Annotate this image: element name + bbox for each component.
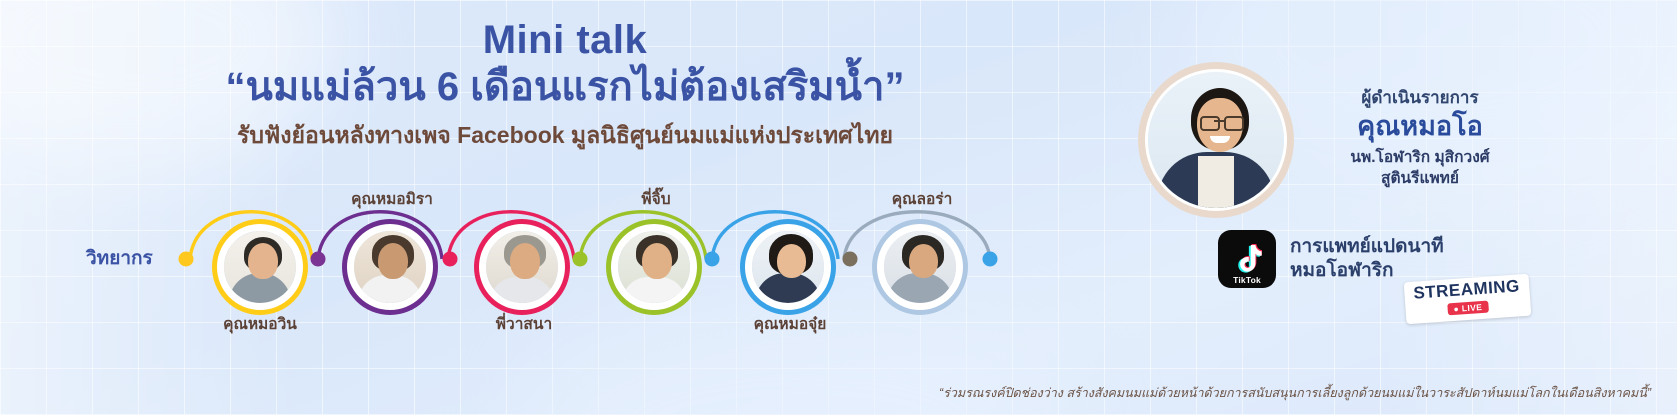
host-specialty: สูตินรีแพทย์ — [1300, 169, 1540, 190]
speaker-node-4[interactable] — [606, 219, 702, 315]
tiktok-note-glyph — [1232, 243, 1262, 275]
tiktok-icon[interactable]: TikTok — [1218, 230, 1276, 288]
speaker-name-6: คุณลอร่า — [842, 186, 1002, 211]
footer-note: “ร่วมรณรงค์ปิดช่องว่าง สร้างสังคมนมแม่ด้… — [0, 383, 1651, 403]
speaker-avatar-5 — [749, 228, 827, 306]
tiktok-channel-block[interactable]: TikTok การแพทย์แปดนาที หมอโอฬาริก — [1218, 230, 1444, 288]
host-role-label: ผู้ดำเนินรายการ — [1300, 88, 1540, 108]
speaker-name-1: คุณหมอวิน — [180, 311, 340, 336]
speaker-avatar-2 — [351, 228, 429, 306]
mini-talk-banner: Mini talk “นมแม่ล้วน 6 เดือนแรกไม่ต้องเส… — [0, 0, 1677, 415]
speaker-avatar-1 — [221, 228, 299, 306]
host-info: ผู้ดำเนินรายการ คุณหมอโอ นพ.โอฬาริก มุสิ… — [1300, 88, 1540, 190]
speaker-node-5[interactable] — [740, 219, 836, 315]
host-nickname: คุณหมอโอ — [1300, 110, 1540, 144]
speaker-node-6[interactable] — [872, 219, 968, 315]
speaker-name-3: พี่วาสนา — [444, 311, 604, 336]
speaker-avatar-4 — [615, 228, 693, 306]
speaker-name-2: คุณหมอมิรา — [312, 186, 472, 211]
tiktok-wordmark: TikTok — [1218, 275, 1276, 285]
channel-name-line1: การแพทย์แปดนาที — [1290, 235, 1444, 259]
live-badge: ● LIVE — [1447, 301, 1489, 316]
host-avatar — [1138, 62, 1294, 218]
speaker-name-4: พี่จิ๊บ — [576, 186, 736, 211]
speaker-avatar-6 — [881, 228, 959, 306]
speaker-avatar-3 — [483, 228, 561, 306]
host-full-name: นพ.โอฬาริก มุสิกวงศ์ — [1300, 148, 1540, 169]
speaker-name-5: คุณหมอจุ๋ย — [710, 311, 870, 336]
channel-name: การแพทย์แปดนาที หมอโอฬาริก — [1290, 235, 1444, 283]
channel-name-line2: หมอโอฬาริก — [1290, 259, 1444, 283]
speaker-node-3[interactable] — [474, 219, 570, 315]
speaker-node-2[interactable] — [342, 219, 438, 315]
speaker-node-1[interactable] — [212, 219, 308, 315]
streaming-badge: STREAMING ● LIVE — [1404, 274, 1531, 325]
